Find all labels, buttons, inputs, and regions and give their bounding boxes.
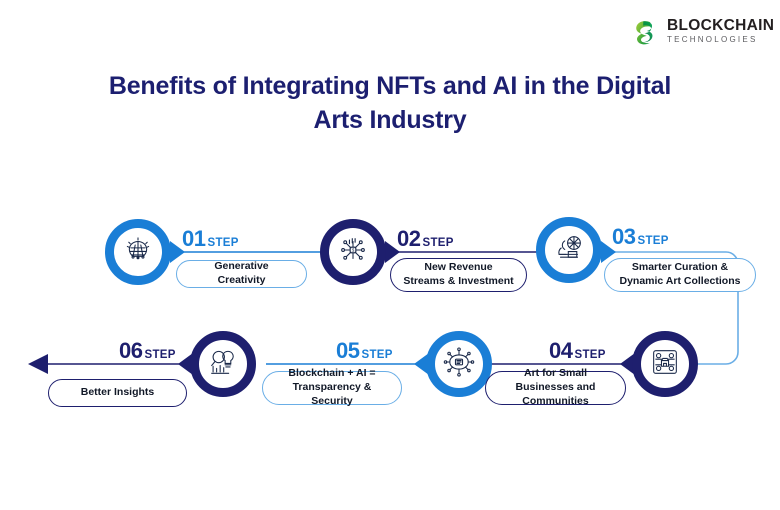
svg-text:$: $ — [352, 247, 355, 252]
step-06-badge[interactable] — [190, 331, 256, 397]
step-06-pill[interactable]: Better Insights — [48, 379, 187, 407]
step-03-number: 03 — [612, 224, 635, 249]
step-04-badge[interactable] — [632, 331, 698, 397]
step-04-word: STEP — [574, 349, 605, 361]
step-04-pill[interactable]: Art for Small Businesses and Communities — [485, 371, 626, 405]
step-05-label: 05STEP — [336, 338, 393, 364]
community-shop-icon — [648, 345, 682, 384]
step-03-label: 03STEP — [612, 224, 669, 250]
step-01-label: 01STEP — [182, 226, 239, 252]
step-02-word: STEP — [422, 237, 453, 249]
step-06-word: STEP — [144, 349, 175, 361]
step-02-number: 02 — [397, 226, 420, 251]
step-03-word: STEP — [637, 235, 668, 247]
step-01-word: STEP — [207, 237, 238, 249]
art-curation-icon — [552, 231, 586, 270]
step-02-badge[interactable]: $ — [320, 219, 386, 285]
blockchain-ai-network-icon — [442, 345, 476, 384]
creative-brain-icon — [121, 233, 155, 272]
step-01-pill[interactable]: Generative Creativity — [176, 260, 307, 288]
step-03-badge[interactable] — [536, 217, 602, 283]
step-02-pill[interactable]: New Revenue Streams & Investment — [390, 258, 527, 292]
insights-lightbulb-icon — [206, 345, 240, 384]
step-05-number: 05 — [336, 338, 359, 363]
step-01-badge[interactable] — [105, 219, 171, 285]
step-03-pill[interactable]: Smarter Curation & Dynamic Art Collectio… — [604, 258, 756, 292]
step-02-label: 02STEP — [397, 226, 454, 252]
step-04-label: 04STEP — [549, 338, 606, 364]
step-05-pill[interactable]: Blockchain + AI = Transparency & Securit… — [262, 371, 402, 405]
step-06-number: 06 — [119, 338, 142, 363]
step-04-number: 04 — [549, 338, 572, 363]
step-05-word: STEP — [361, 349, 392, 361]
step-06-label: 06STEP — [119, 338, 176, 364]
step-01-number: 01 — [182, 226, 205, 251]
infographic-canvas: BLOCKCHAIN TECHNOLOGIES Benefits of Inte… — [0, 0, 780, 510]
revenue-growth-network-icon: $ — [336, 233, 370, 272]
flow-end-arrow-icon — [28, 354, 48, 374]
step-05-badge[interactable] — [426, 331, 492, 397]
